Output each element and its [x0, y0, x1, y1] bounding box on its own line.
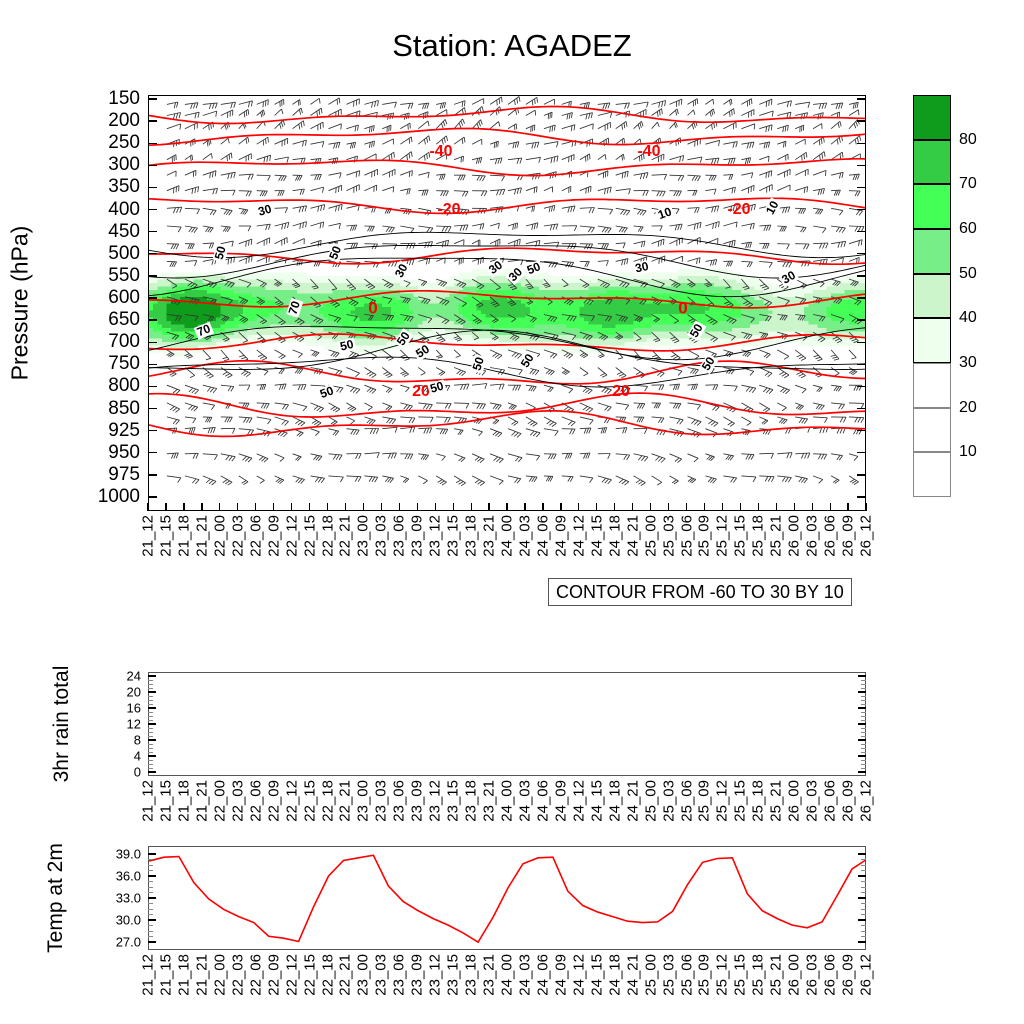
- temp-y-minor-tick: [861, 914, 866, 915]
- page-title: Station: AGADEZ: [0, 28, 1024, 64]
- rain-plot-canvas: [149, 673, 866, 776]
- rain-y-minor-tick: [148, 688, 153, 689]
- main-y-tick-mark: [857, 430, 866, 431]
- x-tick-label: 22_03: [229, 780, 246, 822]
- rain-y-minor-tick: [148, 744, 153, 745]
- main-y-tick-mark: [148, 297, 157, 298]
- main-y-tick-mark: [857, 209, 866, 210]
- x-tick-mark: [399, 503, 400, 511]
- rain-y-tick-label: 24: [101, 669, 141, 684]
- x-tick-mark: [632, 503, 633, 511]
- main-y-tick-mark: [148, 209, 157, 210]
- x-tick-label: 26_06: [822, 780, 839, 822]
- rain-y-minor-tick: [148, 696, 153, 697]
- colorbar-band: [913, 274, 951, 319]
- rain-y-tick-mark: [148, 739, 156, 740]
- x-tick-label: 24_09: [552, 780, 569, 822]
- x-tick-label: 25_00: [642, 515, 659, 557]
- temp-y-minor-tick: [148, 881, 153, 882]
- x-tick-label: 26_12: [858, 780, 875, 822]
- temp-y-tick-label: 39.0: [97, 847, 141, 862]
- x-tick-label: 26_03: [804, 515, 821, 557]
- x-tick-mark: [417, 503, 418, 511]
- x-tick-label: 24_03: [516, 515, 533, 557]
- x-tick-mark: [471, 503, 472, 511]
- x-tick-label: 26_06: [822, 515, 839, 557]
- rain-y-minor-tick: [861, 712, 866, 713]
- main-y-tick-mark: [148, 187, 157, 188]
- temp-y-minor-tick: [148, 914, 153, 915]
- x-tick-label: 22_21: [337, 780, 354, 822]
- x-tick-mark: [650, 503, 651, 511]
- x-tick-label: 21_12: [140, 780, 157, 822]
- rain-y-minor-tick: [148, 684, 153, 685]
- x-tick-label: 24_00: [499, 515, 516, 557]
- x-tick-label: 25_15: [732, 954, 749, 996]
- x-tick-label: 24_21: [624, 515, 641, 557]
- x-tick-label: 26_06: [822, 954, 839, 996]
- rain-y-tick-mark: [148, 771, 156, 772]
- x-tick-label: 23_00: [355, 954, 372, 996]
- x-tick-label: 22_06: [247, 515, 264, 557]
- rain-y-tick-label: 16: [101, 701, 141, 716]
- temp-plot-canvas: [149, 847, 866, 950]
- x-tick-label: 21_21: [193, 515, 210, 557]
- x-tick-mark: [847, 503, 848, 511]
- x-tick-mark: [578, 503, 579, 511]
- rain-y-tick-mark: [148, 723, 156, 724]
- temp-y-minor-tick: [861, 870, 866, 871]
- x-tick-label: 22_03: [229, 515, 246, 557]
- x-tick-label: 24_06: [534, 515, 551, 557]
- x-tick-label: 23_12: [427, 954, 444, 996]
- x-tick-label: 26_00: [786, 780, 803, 822]
- x-tick-label: 21_15: [157, 954, 174, 996]
- main-y-tick-mark: [148, 386, 157, 387]
- rain-y-tick-mark: [858, 771, 866, 772]
- x-tick-mark: [183, 503, 184, 511]
- main-y-tick-mark: [148, 275, 157, 276]
- rain-plot-frame: [148, 672, 866, 776]
- x-tick-label: 21_15: [157, 515, 174, 557]
- colorbar-tick-label: 70: [959, 175, 977, 193]
- main-y-tick-mark: [857, 496, 866, 497]
- temp-y-tick-mark: [858, 941, 866, 942]
- temp-y-tick-mark: [858, 875, 866, 876]
- x-tick-mark: [686, 503, 687, 511]
- x-tick-label: 22_21: [337, 515, 354, 557]
- rain-y-tick-mark: [148, 755, 156, 756]
- x-tick-mark: [722, 503, 723, 511]
- rain-y-tick-label: 20: [101, 685, 141, 700]
- x-tick-label: 26_12: [858, 515, 875, 557]
- x-tick-label: 25_21: [768, 515, 785, 557]
- x-tick-mark: [865, 503, 866, 511]
- x-tick-mark: [345, 503, 346, 511]
- temp-y-minor-tick: [861, 903, 866, 904]
- temp-y-tick-mark: [148, 875, 156, 876]
- temp-y-tick-label: 33.0: [97, 891, 141, 906]
- colorbar: 1020304050607080: [913, 95, 951, 497]
- x-tick-label: 23_06: [391, 780, 408, 822]
- x-tick-label: 23_06: [391, 954, 408, 996]
- temp-y-minor-tick: [148, 925, 153, 926]
- x-tick-label: 21_15: [157, 780, 174, 822]
- x-tick-label: 24_06: [534, 780, 551, 822]
- x-tick-label: 26_03: [804, 954, 821, 996]
- temp-y-minor-tick: [861, 865, 866, 866]
- rain-y-tick-mark: [148, 707, 156, 708]
- temp-y-minor-tick: [148, 931, 153, 932]
- rain-panel: 3hr rain total 04812162024 21_1221_1521_…: [148, 672, 866, 776]
- main-y-axis-label: Pressure (hPa): [7, 226, 34, 381]
- rain-y-tick-label: 0: [101, 765, 141, 780]
- main-y-tick-label: 400: [76, 199, 140, 221]
- main-y-tick-mark: [148, 408, 157, 409]
- x-tick-label: 25_06: [678, 954, 695, 996]
- x-tick-mark: [291, 503, 292, 511]
- temp-y-tick-mark: [148, 941, 156, 942]
- main-y-tick-mark: [148, 143, 157, 144]
- rain-y-minor-tick: [861, 700, 866, 701]
- main-y-tick-label: 850: [76, 398, 140, 420]
- x-tick-label: 25_18: [750, 954, 767, 996]
- x-tick-label: 22_12: [283, 515, 300, 557]
- temp-y-tick-mark: [148, 919, 156, 920]
- temp-y-minor-tick: [148, 892, 153, 893]
- temp-y-tick-mark: [148, 897, 156, 898]
- x-tick-mark: [327, 503, 328, 511]
- x-tick-label: 25_21: [768, 780, 785, 822]
- rain-y-minor-tick: [148, 700, 153, 701]
- rain-y-tick-label: 8: [101, 733, 141, 748]
- x-tick-label: 25_09: [696, 780, 713, 822]
- main-y-tick-mark: [857, 275, 866, 276]
- temp-y-tick-mark: [148, 853, 156, 854]
- main-y-tick-mark: [857, 120, 866, 121]
- x-tick-label: 23_09: [409, 515, 426, 557]
- x-tick-label: 23_06: [391, 515, 408, 557]
- x-tick-label: 24_09: [552, 954, 569, 996]
- x-tick-label: 25_12: [714, 515, 731, 557]
- x-tick-label: 25_09: [696, 954, 713, 996]
- main-y-tick-mark: [148, 452, 157, 453]
- x-tick-mark: [758, 503, 759, 511]
- main-y-tick-mark: [857, 297, 866, 298]
- x-tick-label: 25_09: [696, 515, 713, 557]
- main-y-tick-label: 700: [76, 331, 140, 353]
- main-y-tick-mark: [148, 342, 157, 343]
- x-tick-label: 24_09: [552, 515, 569, 557]
- main-y-tick-label: 925: [76, 420, 140, 442]
- x-tick-label: 22_12: [283, 780, 300, 822]
- x-tick-label: 23_12: [427, 780, 444, 822]
- main-plot-frame: -40-40-20-200020203050503050503030505050…: [148, 95, 866, 511]
- x-tick-label: 21_12: [140, 954, 157, 996]
- x-tick-label: 23_09: [409, 954, 426, 996]
- x-tick-label: 24_06: [534, 954, 551, 996]
- x-tick-label: 25_06: [678, 515, 695, 557]
- x-tick-mark: [165, 503, 166, 511]
- main-cross-section-panel: Pressure (hPa) -40-40-20-200020203050503…: [148, 95, 866, 511]
- x-tick-label: 25_03: [660, 515, 677, 557]
- x-tick-label: 24_15: [588, 780, 605, 822]
- x-tick-label: 24_21: [624, 780, 641, 822]
- rain-y-minor-tick: [861, 744, 866, 745]
- x-tick-label: 25_15: [732, 780, 749, 822]
- rain-y-axis-label: 3hr rain total: [50, 666, 74, 783]
- rain-y-tick-mark: [858, 675, 866, 676]
- x-tick-label: 24_15: [588, 954, 605, 996]
- x-tick-label: 24_18: [606, 780, 623, 822]
- temp-y-minor-tick: [861, 892, 866, 893]
- contour-legend-box: CONTOUR FROM -60 TO 30 BY 10: [548, 578, 852, 606]
- rain-y-minor-tick: [148, 748, 153, 749]
- temp-y-minor-tick: [861, 925, 866, 926]
- x-tick-label: 23_00: [355, 780, 372, 822]
- x-tick-label: 24_12: [570, 954, 587, 996]
- x-tick-label: 22_09: [265, 515, 282, 557]
- x-tick-label: 23_03: [373, 954, 390, 996]
- temp-y-minor-tick: [148, 887, 153, 888]
- temp-y-minor-tick: [148, 870, 153, 871]
- rain-y-minor-tick: [861, 760, 866, 761]
- temp-y-tick-mark: [858, 897, 866, 898]
- main-y-tick-label: 750: [76, 353, 140, 375]
- temp-y-minor-tick: [861, 936, 866, 937]
- rain-y-minor-tick: [861, 716, 866, 717]
- main-y-tick-label: 300: [76, 154, 140, 176]
- main-plot-canvas: -40-40-20-200020203050503050503030505050…: [149, 96, 866, 511]
- temp-y-tick-mark: [858, 919, 866, 920]
- x-tick-mark: [273, 503, 274, 511]
- main-y-tick-mark: [857, 187, 866, 188]
- x-tick-label: 24_21: [624, 954, 641, 996]
- x-tick-label: 23_03: [373, 515, 390, 557]
- rain-y-minor-tick: [861, 720, 866, 721]
- main-y-tick-mark: [148, 496, 157, 497]
- x-tick-label: 22_00: [211, 780, 228, 822]
- main-y-tick-mark: [857, 165, 866, 166]
- rain-y-minor-tick: [148, 704, 153, 705]
- main-y-tick-label: 600: [76, 287, 140, 309]
- x-tick-label: 24_00: [499, 780, 516, 822]
- x-tick-mark: [776, 503, 777, 511]
- colorbar-band: [913, 363, 951, 408]
- temp-y-axis-label: Temp at 2m: [44, 843, 68, 953]
- x-tick-label: 24_18: [606, 954, 623, 996]
- x-tick-label: 22_09: [265, 954, 282, 996]
- colorbar-band: [913, 95, 951, 140]
- main-y-tick-label: 250: [76, 132, 140, 154]
- x-tick-label: 26_00: [786, 515, 803, 557]
- rain-y-tick-label: 12: [101, 717, 141, 732]
- x-tick-mark: [201, 503, 202, 511]
- x-tick-label: 25_03: [660, 780, 677, 822]
- x-tick-label: 23_00: [355, 515, 372, 557]
- x-tick-label: 22_00: [211, 515, 228, 557]
- x-tick-label: 25_21: [768, 954, 785, 996]
- main-y-tick-mark: [857, 474, 866, 475]
- main-y-tick-mark: [148, 474, 157, 475]
- x-tick-label: 25_15: [732, 515, 749, 557]
- main-y-tick-label: 450: [76, 221, 140, 243]
- temp-y-minor-tick: [148, 865, 153, 866]
- colorbar-band: [913, 140, 951, 185]
- main-y-tick-mark: [148, 253, 157, 254]
- x-tick-label: 26_12: [858, 954, 875, 996]
- rain-y-minor-tick: [148, 736, 153, 737]
- x-tick-label: 23_15: [445, 515, 462, 557]
- x-tick-label: 23_09: [409, 780, 426, 822]
- temp-y-minor-tick: [148, 859, 153, 860]
- x-tick-mark: [435, 503, 436, 511]
- x-tick-mark: [524, 503, 525, 511]
- x-tick-mark: [255, 503, 256, 511]
- colorbar-tick-label: 20: [959, 399, 977, 417]
- main-y-tick-mark: [148, 231, 157, 232]
- temp-plot-frame: [148, 846, 866, 950]
- x-tick-label: 22_03: [229, 954, 246, 996]
- x-tick-label: 25_06: [678, 780, 695, 822]
- main-y-tick-mark: [857, 319, 866, 320]
- x-tick-label: 24_18: [606, 515, 623, 557]
- x-tick-mark: [614, 503, 615, 511]
- rain-y-minor-tick: [148, 764, 153, 765]
- rain-y-minor-tick: [148, 760, 153, 761]
- x-tick-label: 23_21: [481, 780, 498, 822]
- rain-y-minor-tick: [148, 728, 153, 729]
- rain-y-minor-tick: [861, 732, 866, 733]
- x-tick-label: 24_12: [570, 515, 587, 557]
- x-tick-mark: [542, 503, 543, 511]
- colorbar-band: [913, 229, 951, 274]
- temp-y-minor-tick: [148, 936, 153, 937]
- temp-y-minor-tick: [861, 881, 866, 882]
- temp-y-minor-tick: [148, 909, 153, 910]
- colorbar-tick-label: 80: [959, 131, 977, 149]
- rain-y-minor-tick: [861, 688, 866, 689]
- x-tick-label: 21_21: [193, 780, 210, 822]
- colorbar-tick-label: 30: [959, 354, 977, 372]
- rain-y-minor-tick: [148, 680, 153, 681]
- rain-y-minor-tick: [148, 752, 153, 753]
- x-tick-label: 25_12: [714, 954, 731, 996]
- x-tick-label: 21_12: [140, 515, 157, 557]
- x-tick-mark: [363, 503, 364, 511]
- temp-y-tick-label: 30.0: [97, 913, 141, 928]
- x-tick-mark: [506, 503, 507, 511]
- rain-y-minor-tick: [148, 768, 153, 769]
- rain-y-tick-mark: [148, 691, 156, 692]
- main-y-tick-mark: [148, 430, 157, 431]
- rain-y-minor-tick: [861, 752, 866, 753]
- main-y-tick-mark: [857, 342, 866, 343]
- main-y-tick-label: 1000: [76, 486, 140, 508]
- main-y-tick-label: 550: [76, 265, 140, 287]
- rain-y-tick-mark: [858, 691, 866, 692]
- rain-y-minor-tick: [861, 736, 866, 737]
- x-tick-mark: [596, 503, 597, 511]
- x-tick-label: 22_09: [265, 780, 282, 822]
- x-tick-mark: [740, 503, 741, 511]
- x-tick-mark: [794, 503, 795, 511]
- x-tick-mark: [668, 503, 669, 511]
- main-y-tick-mark: [857, 231, 866, 232]
- rain-y-minor-tick: [148, 732, 153, 733]
- x-tick-mark: [237, 503, 238, 511]
- x-tick-mark: [147, 503, 148, 511]
- x-tick-label: 23_15: [445, 780, 462, 822]
- main-y-tick-mark: [148, 319, 157, 320]
- x-tick-label: 22_06: [247, 954, 264, 996]
- x-tick-label: 22_06: [247, 780, 264, 822]
- colorbar-tick-label: 60: [959, 220, 977, 238]
- x-tick-label: 26_09: [840, 780, 857, 822]
- main-y-tick-label: 200: [76, 110, 140, 132]
- x-tick-label: 21_18: [175, 780, 192, 822]
- colorbar-tick-label: 50: [959, 265, 977, 283]
- temp-y-tick-label: 36.0: [97, 869, 141, 884]
- rain-y-minor-tick: [861, 696, 866, 697]
- x-tick-label: 24_00: [499, 954, 516, 996]
- x-tick-label: 26_09: [840, 954, 857, 996]
- rain-y-tick-mark: [858, 739, 866, 740]
- x-tick-label: 22_18: [319, 515, 336, 557]
- x-tick-label: 23_12: [427, 515, 444, 557]
- main-y-tick-mark: [857, 408, 866, 409]
- x-tick-label: 26_00: [786, 954, 803, 996]
- x-tick-label: 24_03: [516, 780, 533, 822]
- x-tick-label: 24_03: [516, 954, 533, 996]
- temp-y-minor-tick: [861, 887, 866, 888]
- x-tick-label: 23_18: [463, 780, 480, 822]
- rain-y-minor-tick: [861, 684, 866, 685]
- x-tick-mark: [560, 503, 561, 511]
- temp-y-minor-tick: [148, 903, 153, 904]
- main-y-tick-label: 800: [76, 375, 140, 397]
- rain-y-minor-tick: [861, 704, 866, 705]
- x-tick-label: 25_18: [750, 515, 767, 557]
- x-tick-mark: [381, 503, 382, 511]
- main-y-tick-label: 150: [76, 88, 140, 110]
- x-tick-label: 22_15: [301, 954, 318, 996]
- x-tick-label: 22_15: [301, 515, 318, 557]
- x-tick-label: 22_12: [283, 954, 300, 996]
- x-tick-label: 23_18: [463, 954, 480, 996]
- main-y-tick-label: 350: [76, 176, 140, 198]
- x-tick-mark: [309, 503, 310, 511]
- rain-y-tick-label: 4: [101, 749, 141, 764]
- x-tick-label: 22_00: [211, 954, 228, 996]
- colorbar-band: [913, 452, 951, 497]
- temp-y-tick-label: 27.0: [97, 935, 141, 950]
- x-tick-label: 21_18: [175, 515, 192, 557]
- rain-y-minor-tick: [148, 712, 153, 713]
- x-tick-label: 24_15: [588, 515, 605, 557]
- rain-y-tick-mark: [858, 755, 866, 756]
- x-tick-label: 22_18: [319, 780, 336, 822]
- x-tick-label: 22_18: [319, 954, 336, 996]
- main-y-tick-mark: [857, 253, 866, 254]
- rain-y-minor-tick: [148, 720, 153, 721]
- main-y-tick-mark: [857, 143, 866, 144]
- temp-y-tick-mark: [858, 853, 866, 854]
- x-tick-label: 23_03: [373, 780, 390, 822]
- main-y-tick-mark: [857, 452, 866, 453]
- x-tick-mark: [453, 503, 454, 511]
- temp-y-minor-tick: [861, 909, 866, 910]
